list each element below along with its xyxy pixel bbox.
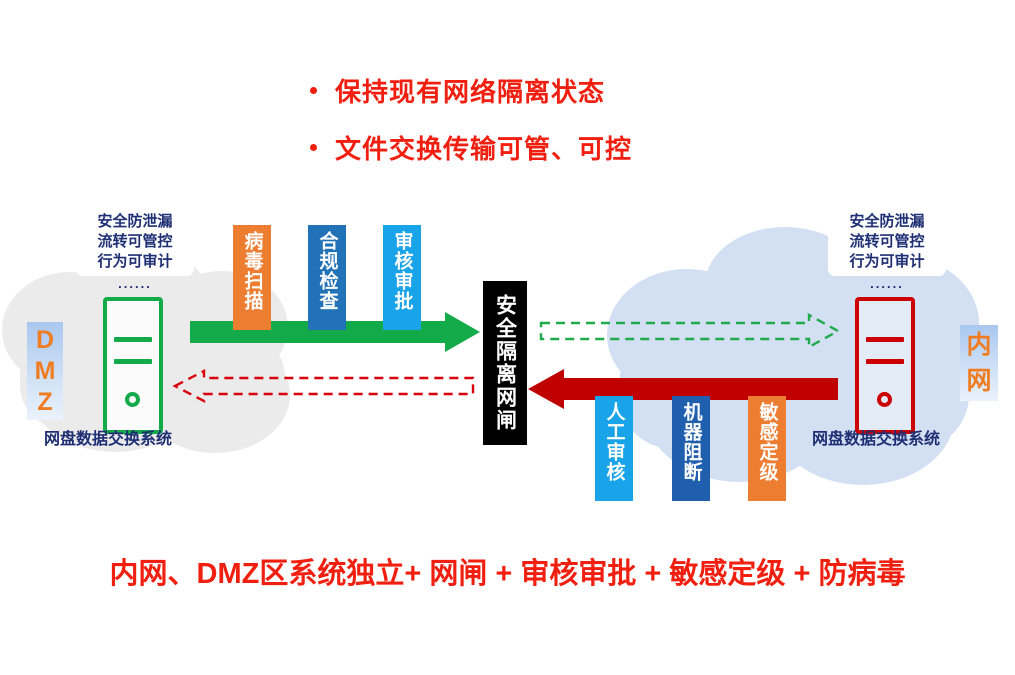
server-chassis (103, 297, 163, 434)
arrow-gateway-to-dmz (174, 368, 474, 404)
chip-char: 机器阻断 (679, 402, 704, 482)
server-slot-bar (114, 337, 152, 342)
callout-body: 安全防泄漏 流转可管控 行为可审计 (76, 206, 194, 276)
callout-intranet: 安全防泄漏 流转可管控 行为可审计 ...... (828, 206, 946, 290)
control-chip-audit-approval[interactable]: 审核审批 (383, 225, 421, 330)
zone-letter: 内 (966, 327, 991, 363)
gateway-label: 安全隔离网闸 (494, 294, 517, 432)
zone-letter: M (35, 356, 56, 387)
callout-body: 安全防泄漏 流转可管控 行为可审计 (828, 206, 946, 276)
chip-char: 合规检查 (315, 231, 340, 311)
control-chip-sensitivity-grading[interactable]: 敏感定级 (748, 396, 786, 501)
chip-char: 人工审核 (602, 402, 627, 482)
callout-dots: ...... (76, 278, 194, 290)
system-caption-intranet: 网盘数据交换系统 (812, 425, 940, 449)
summary-formula: 内网、DMZ区系统独立+ 网闸 + 审核审批 + 敏感定级 + 防病毒 (0, 550, 1015, 592)
bullet-text: 文件交换传输可管、可控 (335, 129, 632, 166)
callout-line: 流转可管控 (80, 232, 190, 252)
callout-line: 安全防泄漏 (80, 212, 190, 232)
control-chip-compliance[interactable]: 合规检查 (308, 225, 346, 330)
chip-char: 病毒扫描 (240, 231, 265, 311)
server-icon-intranet (855, 297, 915, 434)
control-chip-virus-scan[interactable]: 病毒扫描 (233, 225, 271, 330)
chip-char: 审核审批 (390, 231, 415, 311)
zone-chip-dmz: D M Z (27, 322, 63, 420)
callout-line: 行为可审计 (80, 252, 190, 272)
zone-letter: D (36, 325, 54, 356)
security-gateway-box[interactable]: 安全隔离网闸 (483, 281, 527, 445)
bullet-dot-icon (310, 87, 317, 94)
server-slot-bar (114, 359, 152, 364)
zone-letter: 网 (966, 363, 991, 399)
chip-char: 敏感定级 (755, 402, 780, 482)
callout-dots: ...... (828, 278, 946, 290)
bullet-list: 保持现有网络隔离状态 文件交换传输可管、可控 (310, 72, 830, 186)
bullet-text: 保持现有网络隔离状态 (335, 72, 605, 109)
diagram-canvas: 保持现有网络隔离状态 文件交换传输可管、可控 (0, 0, 1015, 675)
server-slot-bar (866, 359, 904, 364)
server-chassis (855, 297, 915, 434)
server-power-icon (877, 392, 892, 407)
server-slot-bar (866, 337, 904, 342)
bullet-item: 文件交换传输可管、可控 (310, 129, 830, 166)
server-icon-dmz (103, 297, 163, 434)
control-chip-machine-blocking[interactable]: 机器阻断 (672, 396, 710, 501)
bullet-item: 保持现有网络隔离状态 (310, 72, 830, 109)
control-chip-manual-review[interactable]: 人工审核 (595, 396, 633, 501)
bullet-dot-icon (310, 144, 317, 151)
callout-line: 行为可审计 (832, 252, 942, 272)
zone-chip-intranet: 内 网 (960, 325, 998, 401)
callout-line: 流转可管控 (832, 232, 942, 252)
callout-line: 安全防泄漏 (832, 212, 942, 232)
callout-dmz: 安全防泄漏 流转可管控 行为可审计 ...... (76, 206, 194, 290)
zone-letter: Z (37, 387, 52, 418)
arrow-gateway-to-intranet (540, 312, 840, 350)
server-power-icon (125, 392, 140, 407)
system-caption-dmz: 网盘数据交换系统 (44, 425, 172, 449)
